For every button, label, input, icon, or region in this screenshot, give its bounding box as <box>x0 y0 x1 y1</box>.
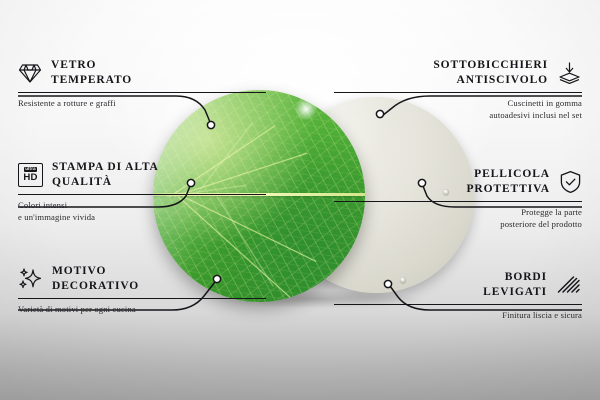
feature-title: STAMPA DI ALTA QUALITÀ <box>52 160 159 190</box>
feature-subtitle: Finitura liscia e sicura <box>334 309 582 321</box>
title-line-2: LEVIGATI <box>483 285 547 300</box>
subtitle-line-2: posteriore del prodotto <box>334 218 582 230</box>
divider <box>18 298 266 299</box>
subtitle-line-1: Colori intensi <box>18 199 266 211</box>
subtitle-line-1: Cuscinetti in gomma <box>334 97 582 109</box>
feature-subtitle: Cuscinetti in gomma autoadesivi inclusi … <box>334 97 582 121</box>
feature-motivo-decorativo[interactable]: MOTIVO DECORATIVO Varietà di motivi per … <box>18 264 266 315</box>
title-line-2: TEMPERATO <box>51 73 132 88</box>
subtitle-line-2: autoadesivi inclusi nel set <box>334 109 582 121</box>
product-infographic: VETRO TEMPERATO Resistente a rotture e g… <box>0 0 600 400</box>
sanded-edge-hatch-icon <box>556 274 582 296</box>
feature-bordi-levigati[interactable]: BORDI LEVIGATI Finitura liscia e sicura <box>334 270 582 321</box>
divider <box>334 92 582 93</box>
feature-title: PELLICOLA PROTETTIVA <box>466 167 550 197</box>
feature-vetro-temperato[interactable]: VETRO TEMPERATO Resistente a rotture e g… <box>18 58 266 109</box>
subtitle-line-1: Varietà di motivi per ogni cucina <box>18 303 266 315</box>
feature-title: VETRO TEMPERATO <box>51 58 132 88</box>
title-line-2: ANTISCIVOLO <box>433 73 548 88</box>
feature-header: VETRO TEMPERATO <box>18 58 266 88</box>
feature-subtitle: Protegge la parte posteriore del prodott… <box>334 206 582 230</box>
feature-header: BORDI LEVIGATI <box>334 270 582 300</box>
title-line-2: DECORATIVO <box>52 279 139 294</box>
title-line-2: QUALITÀ <box>52 175 159 190</box>
title-line-1: SOTTOBICCHIERI <box>433 58 548 73</box>
feature-sottobicchieri-antiscivolo[interactable]: SOTTOBICCHIERI ANTISCIVOLO Cuscinetti in… <box>334 58 582 121</box>
title-line-1: VETRO <box>51 58 132 73</box>
diamond-icon <box>18 62 42 84</box>
arrow-down-pad-icon <box>557 61 582 85</box>
feature-stampa-alta-qualita[interactable]: ultra HD STAMPA DI ALTA QUALITÀ Colori i… <box>18 160 266 223</box>
title-line-2: PROTETTIVA <box>466 182 550 197</box>
hd-badge-large-text: HD <box>23 173 37 183</box>
feature-subtitle: Resistente a rotture e graffi <box>18 97 266 109</box>
title-line-1: STAMPA DI ALTA <box>52 160 159 175</box>
feature-title: BORDI LEVIGATI <box>483 270 547 300</box>
divider <box>18 194 266 195</box>
title-line-1: BORDI <box>483 270 547 285</box>
ultra-hd-badge-icon: ultra HD <box>18 163 43 187</box>
divider <box>18 92 266 93</box>
feature-header: MOTIVO DECORATIVO <box>18 264 266 294</box>
feature-header: SOTTOBICCHIERI ANTISCIVOLO <box>334 58 582 88</box>
shield-check-icon <box>559 170 582 194</box>
subtitle-line-1: Finitura liscia e sicura <box>334 309 582 321</box>
feature-title: SOTTOBICCHIERI ANTISCIVOLO <box>433 58 548 88</box>
divider <box>334 201 582 202</box>
feature-header: ultra HD STAMPA DI ALTA QUALITÀ <box>18 160 266 190</box>
subtitle-line-1: Resistente a rotture e graffi <box>18 97 266 109</box>
feature-header: PELLICOLA PROTETTIVA <box>334 167 582 197</box>
subtitle-line-2: e un'immagine vivida <box>18 211 266 223</box>
subtitle-line-1: Protegge la parte <box>334 206 582 218</box>
sparkles-icon <box>18 267 43 291</box>
feature-pellicola-protettiva[interactable]: PELLICOLA PROTETTIVA Protegge la parte p… <box>334 167 582 230</box>
feature-subtitle: Colori intensi e un'immagine vivida <box>18 199 266 223</box>
glass-sparkle <box>293 96 319 122</box>
feature-title: MOTIVO DECORATIVO <box>52 264 139 294</box>
title-line-1: MOTIVO <box>52 264 139 279</box>
divider <box>334 304 582 305</box>
title-line-1: PELLICOLA <box>466 167 550 182</box>
feature-subtitle: Varietà di motivi per ogni cucina <box>18 303 266 315</box>
